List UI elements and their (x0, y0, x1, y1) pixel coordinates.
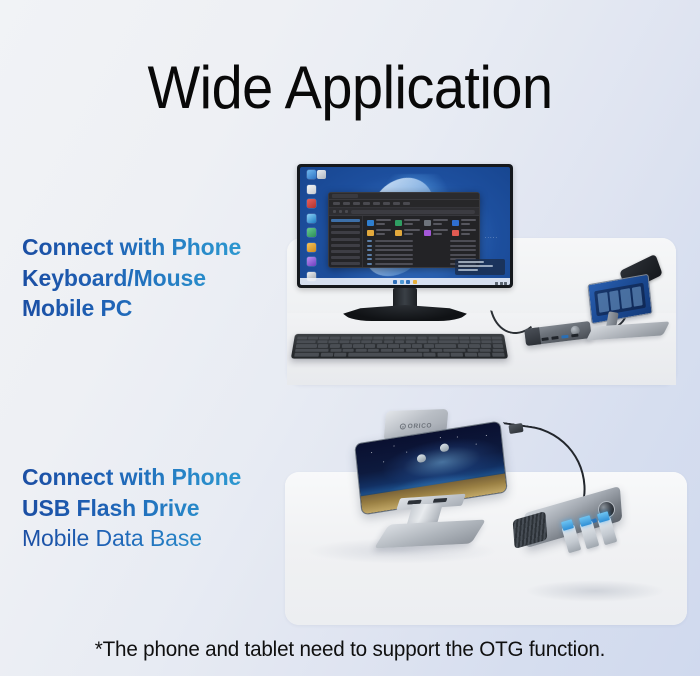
address-path-field[interactable] (351, 210, 475, 214)
orico-logo-text: ORICO (407, 422, 432, 430)
file-item[interactable] (452, 219, 476, 226)
back-icon[interactable] (333, 210, 336, 213)
desktop-icons[interactable] (303, 170, 325, 285)
sidebar-item[interactable] (331, 238, 360, 241)
feature-2-text-block: Connect with Phone USB Flash Drive Mobil… (22, 462, 280, 554)
explorer-taskbar-icon[interactable] (406, 280, 410, 284)
forward-icon[interactable] (339, 210, 342, 213)
feature-2-photo: ORICO (285, 398, 687, 625)
feature-2-line-3: Mobile Data Base (22, 523, 280, 554)
explorer-title-bar[interactable] (329, 193, 479, 200)
feature-1-text-block: Connect with Phone Keyboard/Mouse Mobile… (22, 232, 280, 324)
file-item[interactable] (367, 229, 391, 236)
stand-base (586, 321, 670, 340)
astronaut-helmet (439, 443, 449, 452)
sidebar-item[interactable] (331, 225, 360, 228)
monitor: ····· (297, 164, 513, 294)
usb-hub-device-2 (513, 492, 631, 554)
feature-1-line-1: Connect with Phone (22, 232, 280, 263)
wireless-keyboard (291, 334, 508, 359)
explorer-sidebar[interactable] (329, 216, 363, 268)
desktop-icon[interactable] (307, 185, 316, 194)
footnote: *The phone and tablet need to support th… (14, 637, 686, 662)
file-item[interactable] (424, 229, 448, 236)
orico-logo: ORICO (399, 422, 432, 430)
feature-2-line-2: USB Flash Drive (22, 493, 280, 524)
desktop-icon[interactable] (307, 243, 316, 252)
feature-1-line-2: Keyboard/Mouse (22, 263, 280, 294)
list-row[interactable] (367, 254, 476, 256)
sidebar-item[interactable] (331, 219, 360, 222)
list-row[interactable] (367, 240, 476, 242)
monitor-screen: ····· (300, 167, 510, 285)
file-item[interactable] (395, 229, 419, 236)
explorer-address-bar[interactable] (329, 208, 479, 216)
toolbar-cut-button[interactable] (343, 202, 350, 205)
file-item[interactable] (424, 219, 448, 226)
desktop-icon[interactable] (317, 170, 326, 179)
sidebar-item[interactable] (331, 262, 360, 265)
windows-taskbar[interactable] (300, 278, 510, 285)
file-item[interactable] (395, 219, 419, 226)
toolbar-sort-button[interactable] (393, 202, 400, 205)
sidebar-item[interactable] (331, 244, 360, 247)
tablet-stand-assembly (581, 262, 667, 340)
tablet-on-stand (587, 274, 652, 325)
explorer-toolbar[interactable] (329, 200, 479, 208)
stand-foot (374, 520, 486, 549)
toolbar-copy-button[interactable] (353, 202, 360, 205)
file-item[interactable] (452, 229, 476, 236)
start-icon[interactable] (393, 280, 397, 284)
wide-application-banner: Wide Application Connect with Phone Keyb… (0, 0, 700, 676)
file-explorer-window[interactable] (328, 192, 480, 268)
feature-1-line-3: Mobile PC (22, 293, 280, 324)
tablet-screen-ui (594, 283, 646, 317)
orico-logo-mark (399, 423, 406, 429)
app-icon[interactable] (413, 280, 417, 284)
desktop-icon[interactable] (307, 257, 316, 266)
page-title: Wide Application (25, 57, 676, 119)
list-row[interactable] (367, 249, 476, 251)
feature-2-line-1: Connect with Phone (22, 462, 280, 493)
hub-ports (541, 334, 578, 341)
search-icon[interactable] (400, 280, 404, 284)
monitor-bezel: ····· (297, 164, 513, 288)
up-icon[interactable] (345, 210, 348, 213)
toolbar-share-button[interactable] (383, 202, 390, 205)
hub-shadow (525, 580, 665, 602)
sidebar-item[interactable] (331, 231, 360, 234)
toolbar-view-button[interactable] (403, 202, 410, 205)
list-row[interactable] (367, 245, 476, 247)
orico-phone-stand: ORICO (357, 410, 513, 562)
toolbar-rename-button[interactable] (373, 202, 380, 205)
sidebar-item[interactable] (331, 250, 360, 253)
desktop-icon[interactable] (307, 228, 316, 237)
explorer-quick-access-grid (367, 219, 476, 236)
desktop-icon[interactable] (307, 214, 316, 223)
desktop-widget-panel[interactable] (455, 259, 505, 275)
hub-end-cap (524, 327, 541, 346)
toolbar-paste-button[interactable] (363, 202, 370, 205)
sidebar-item[interactable] (331, 256, 360, 259)
file-item[interactable] (367, 219, 391, 226)
screen-watermark: ····· (485, 235, 498, 241)
desktop-icon[interactable] (307, 170, 316, 179)
feature-1-photo: ····· (287, 140, 676, 385)
explorer-tab[interactable] (332, 194, 358, 198)
system-tray[interactable] (495, 282, 507, 285)
desktop-icon[interactable] (307, 199, 316, 208)
toolbar-new-button[interactable] (333, 202, 340, 205)
